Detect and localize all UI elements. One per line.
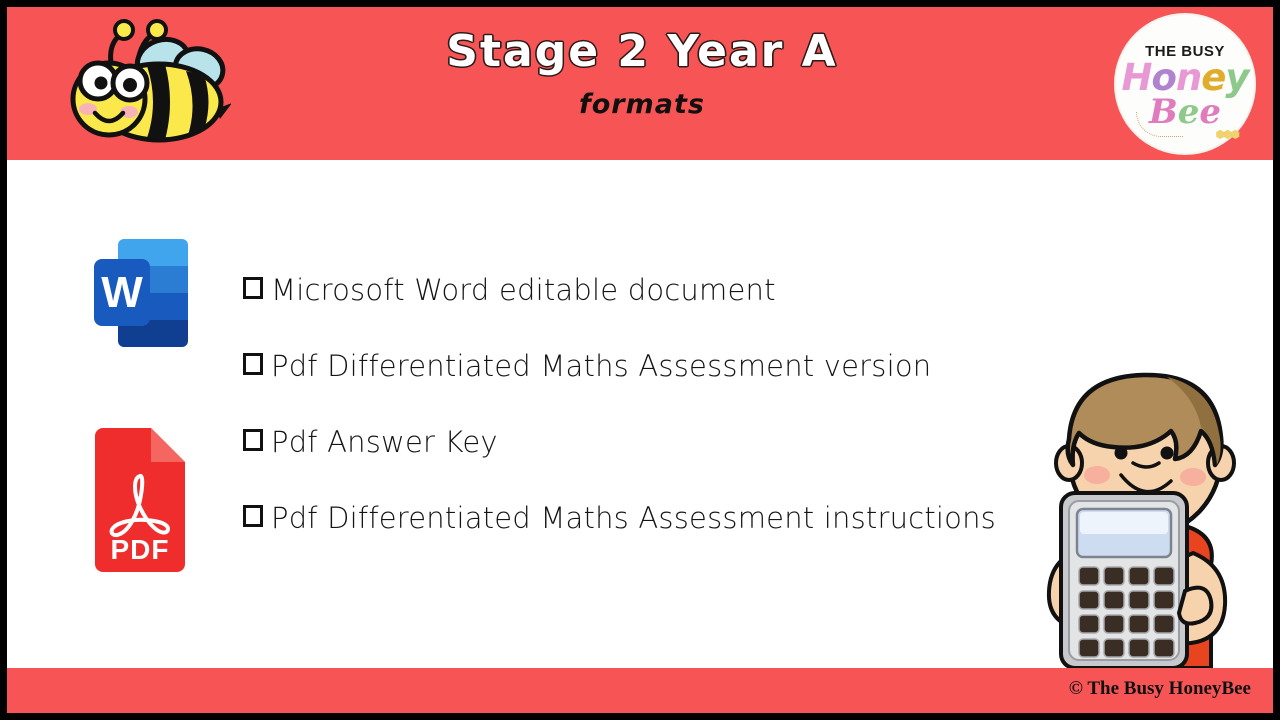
microsoft-word-icon: W xyxy=(92,235,192,351)
list-item[interactable]: Pdf Differentiated Maths Assessment vers… xyxy=(243,338,1033,394)
header-banner: Stage 2 Year A formats ⬢⬢⬢ THE BUSY Hone… xyxy=(7,7,1273,160)
checkbox-icon[interactable] xyxy=(243,277,267,303)
list-item-label: Pdf Differentiated Maths Assessment vers… xyxy=(271,349,931,383)
logo-bee-letter: e xyxy=(1199,92,1221,132)
list-item-label: Pdf Differentiated Maths Assessment inst… xyxy=(271,501,996,535)
list-item[interactable]: Pdf Differentiated Maths Assessment inst… xyxy=(243,490,1033,546)
list-item[interactable]: Microsoft Word editable document xyxy=(243,262,1033,318)
boy-with-calculator-illustration xyxy=(1017,353,1267,668)
main-content: W PDF M xyxy=(7,160,1273,668)
checkbox-box xyxy=(243,277,263,299)
pdf-file-icon: PDF xyxy=(85,428,195,580)
list-item-label: Pdf Answer Key xyxy=(271,425,498,459)
checkbox-icon[interactable] xyxy=(243,429,267,455)
checkbox-icon[interactable] xyxy=(243,505,267,531)
svg-text:W: W xyxy=(101,268,143,317)
logo-bee-letter: B xyxy=(1149,92,1178,132)
page-root: Stage 2 Year A formats ⬢⬢⬢ THE BUSY Hone… xyxy=(0,0,1280,720)
page-subtitle: formats xyxy=(247,89,1037,120)
bee-icon xyxy=(51,17,231,151)
checkbox-icon[interactable] xyxy=(243,353,267,379)
copyright-credit: © The Busy HoneyBee xyxy=(1069,678,1251,700)
checkbox-box xyxy=(243,429,263,451)
svg-text:PDF: PDF xyxy=(111,534,170,565)
checkbox-box xyxy=(243,353,263,375)
logo-bee-letter: e xyxy=(1178,92,1200,132)
list-item-label: Microsoft Word editable document xyxy=(271,273,776,307)
checkbox-box xyxy=(243,505,263,527)
title-block: Stage 2 Year A formats xyxy=(247,21,1037,120)
formats-checklist: Microsoft Word editable document Pdf Dif… xyxy=(243,262,1033,566)
page-title: Stage 2 Year A xyxy=(247,21,1037,83)
slide-canvas: Stage 2 Year A formats ⬢⬢⬢ THE BUSY Hone… xyxy=(7,7,1273,713)
logo-bee-text: Bee xyxy=(1116,93,1254,131)
list-item[interactable]: Pdf Answer Key xyxy=(243,414,1033,470)
footer-banner: © The Busy HoneyBee xyxy=(7,668,1273,713)
brand-logo[interactable]: ⬢⬢⬢ THE BUSY Honey Bee xyxy=(1116,15,1254,153)
